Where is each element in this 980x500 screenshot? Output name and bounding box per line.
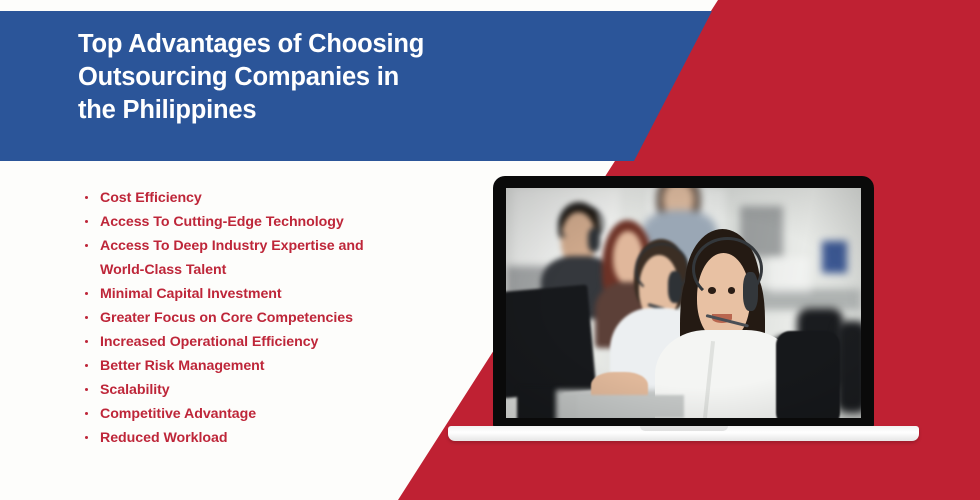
list-item: Scalability bbox=[78, 378, 448, 402]
list-item: Greater Focus on Core Competencies bbox=[78, 306, 448, 330]
bullet-dot-icon bbox=[85, 316, 88, 319]
list-item-label: Competitive Advantage bbox=[100, 406, 256, 422]
list-item-label: Better Risk Management bbox=[100, 358, 264, 374]
page-title: Top Advantages of Choosing Outsourcing C… bbox=[78, 28, 598, 127]
list-item: Better Risk Management bbox=[78, 354, 448, 378]
list-item-label: Greater Focus on Core Competencies bbox=[100, 310, 353, 326]
bullet-dot-icon bbox=[85, 364, 88, 367]
list-item: Minimal Capital Investment bbox=[78, 282, 448, 306]
bullet-dot-icon bbox=[85, 244, 88, 247]
list-item-label: Reduced Workload bbox=[100, 430, 227, 446]
title-line-2: Outsourcing Companies in bbox=[78, 61, 598, 94]
infographic-canvas: Top Advantages of Choosing Outsourcing C… bbox=[0, 0, 980, 500]
list-item-label: Access To Deep Industry Expertise and bbox=[100, 238, 364, 254]
laptop-screen bbox=[506, 188, 861, 418]
list-item-label: Increased Operational Efficiency bbox=[100, 334, 318, 350]
bullet-dot-icon bbox=[85, 340, 88, 343]
list-item: Access To Cutting-Edge Technology bbox=[78, 210, 448, 234]
bullet-dot-icon bbox=[85, 388, 88, 391]
laptop-base bbox=[448, 426, 919, 441]
list-item-label: Minimal Capital Investment bbox=[100, 286, 282, 302]
list-item: Competitive Advantage bbox=[78, 402, 448, 426]
title-line-3: the Philippines bbox=[78, 94, 598, 127]
laptop-lid bbox=[493, 176, 874, 428]
list-item-label: Cost Efficiency bbox=[100, 190, 202, 206]
bullet-dot-icon bbox=[85, 220, 88, 223]
list-item-label: Access To Cutting-Edge Technology bbox=[100, 214, 344, 230]
bullet-dot-icon bbox=[85, 292, 88, 295]
list-item-label-continued: World-Class Talent bbox=[100, 258, 448, 282]
bullet-dot-icon bbox=[85, 196, 88, 199]
list-item: Increased Operational Efficiency bbox=[78, 330, 448, 354]
advantages-list: Cost Efficiency Access To Cutting-Edge T… bbox=[78, 186, 448, 450]
list-item: Reduced Workload bbox=[78, 426, 448, 450]
call-center-photo bbox=[506, 188, 861, 418]
bullet-dot-icon bbox=[85, 436, 88, 439]
photo-vignette bbox=[506, 188, 861, 418]
bullet-dot-icon bbox=[85, 412, 88, 415]
title-line-1: Top Advantages of Choosing bbox=[78, 28, 598, 61]
list-item-label: Scalability bbox=[100, 382, 170, 398]
laptop-illustration bbox=[493, 176, 874, 428]
list-item: Access To Deep Industry Expertise and Wo… bbox=[78, 234, 448, 282]
list-item: Cost Efficiency bbox=[78, 186, 448, 210]
